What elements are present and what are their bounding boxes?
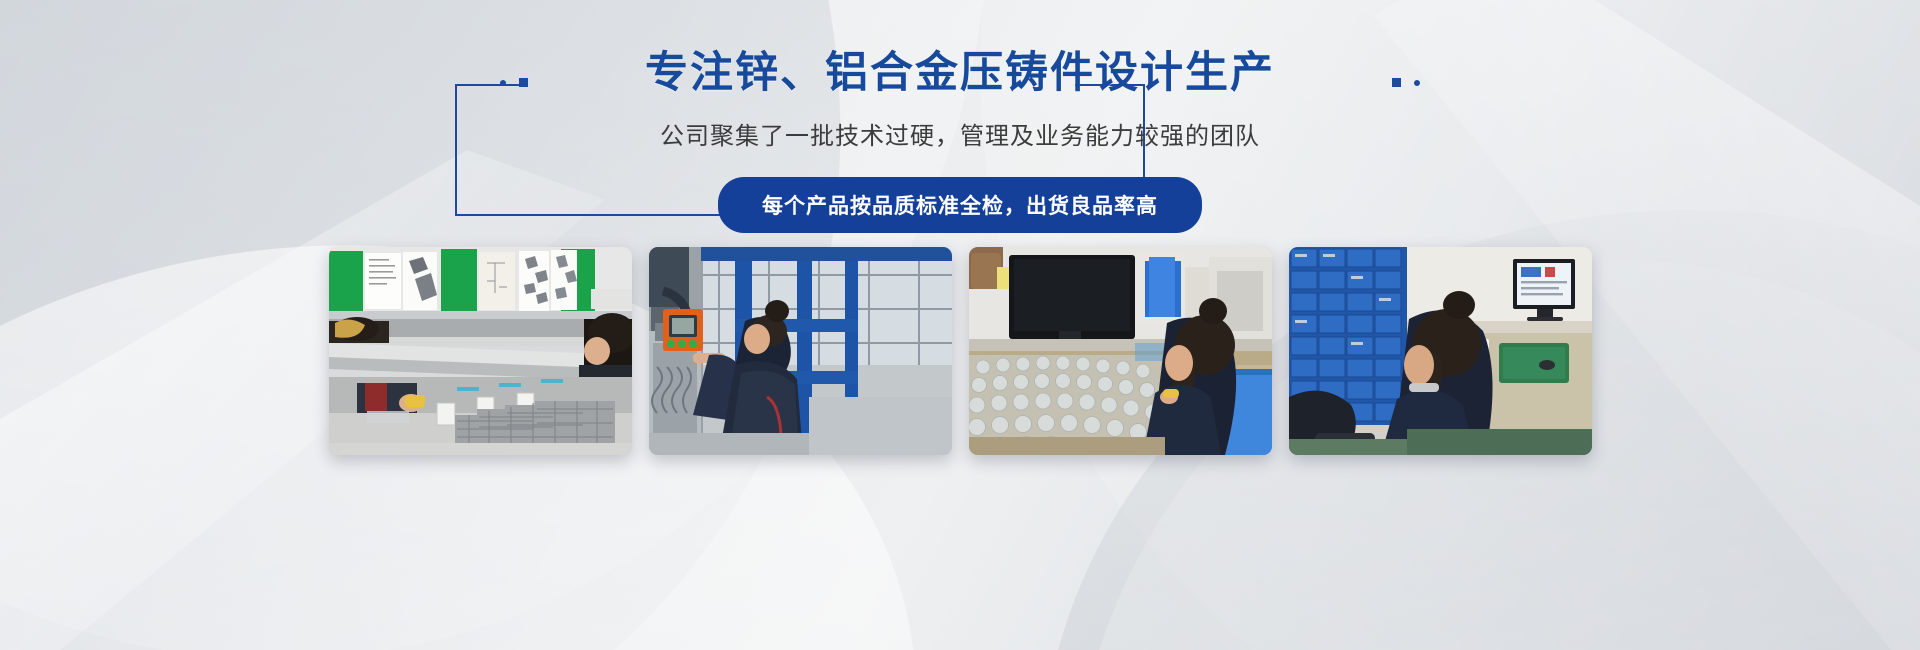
quality-badge[interactable]: 每个产品按品质标准全检，出货良品率高 [718, 177, 1202, 233]
bracket-right-tick-icon [1392, 78, 1401, 87]
gallery-photo-quality-inspection-station[interactable] [969, 247, 1272, 455]
bracket-right-dot-icon [1414, 80, 1420, 86]
photo-gallery [0, 247, 1920, 455]
bracket-left-tick-icon [519, 78, 528, 87]
gallery-photo-office-workstation-bins[interactable] [1289, 247, 1592, 455]
page-subtitle: 公司聚集了一批技术过硬，管理及业务能力较强的团队 [660, 116, 1260, 151]
promo-banner: 专注锌、铝合金压铸件设计生产 公司聚集了一批技术过硬，管理及业务能力较强的团队 … [0, 0, 1920, 650]
headline-group: 专注锌、铝合金压铸件设计生产 公司聚集了一批技术过硬，管理及业务能力较强的团队 … [0, 52, 1920, 233]
bracket-left-dot-icon [500, 80, 506, 86]
gallery-photo-warehouse-parts-picking[interactable] [329, 247, 632, 455]
gallery-photo-die-casting-machine-operation[interactable] [649, 247, 952, 455]
page-title: 专注锌、铝合金压铸件设计生产 [645, 52, 1275, 95]
